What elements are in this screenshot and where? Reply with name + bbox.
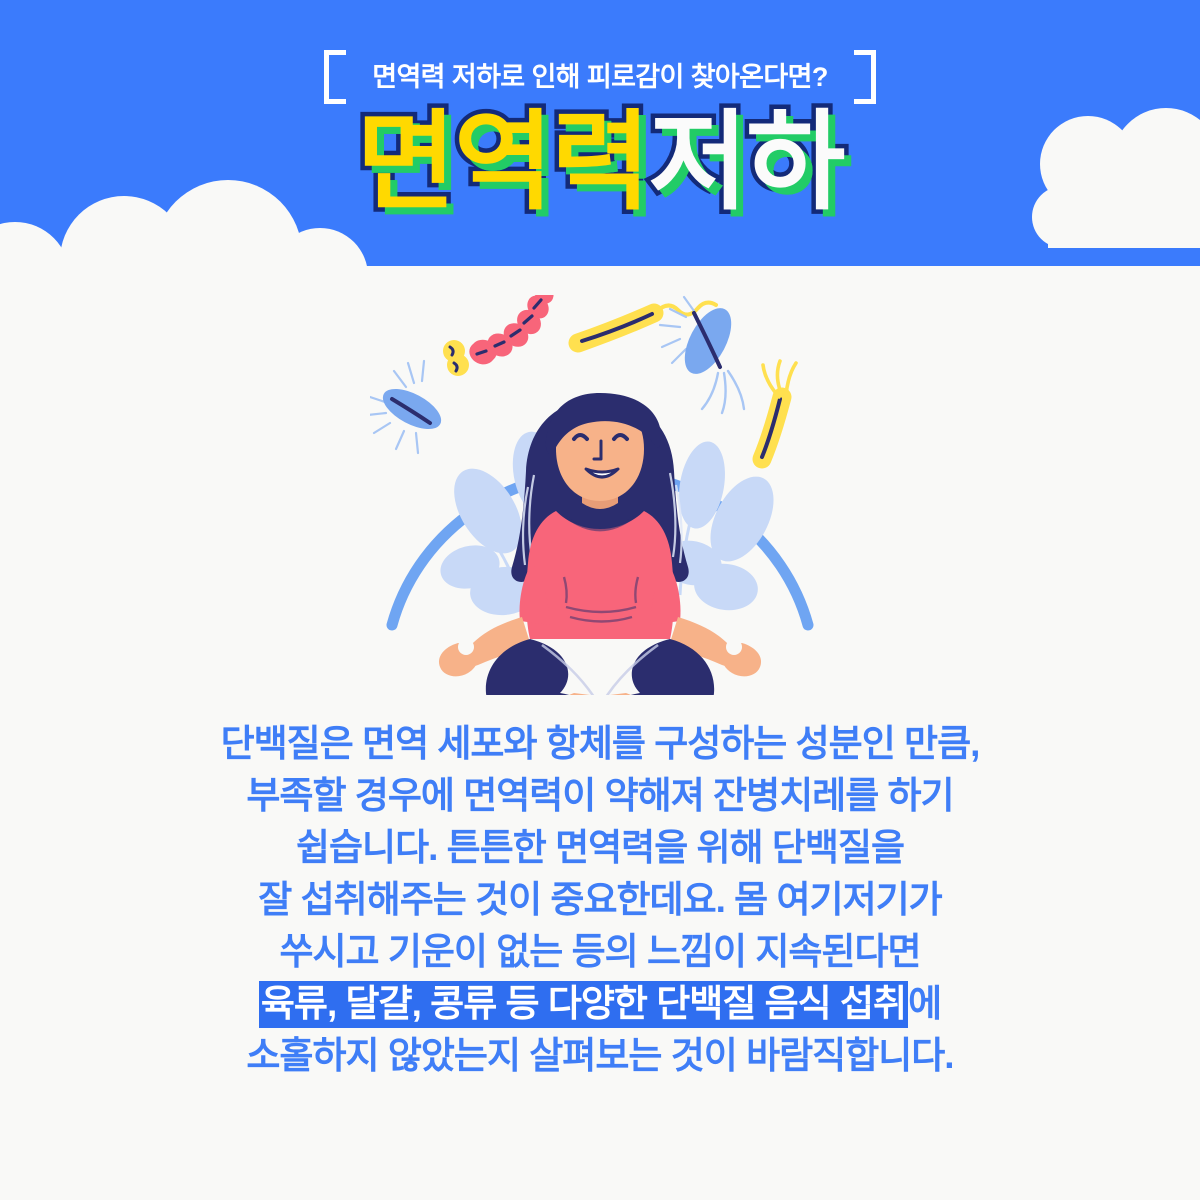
body-line-text: 부족할 경우에 면역력이 약해져 잔병치레를 하기	[246, 775, 953, 816]
title-part-decline: 저하	[649, 104, 844, 221]
body-line-text: 잘 섭취해주는 것이 중요한데요. 몸 여기저기가	[258, 879, 941, 920]
body-line: 단백질은 면역 세포와 항체를 구성하는 성분인 만큼,	[0, 718, 1200, 770]
germ-diplococcus-yellow	[443, 340, 469, 376]
illustration-woman-meditating	[370, 295, 830, 695]
hand-right	[721, 639, 761, 676]
bracket-left-icon	[324, 50, 346, 104]
bracket-right-icon	[854, 50, 876, 104]
title-part-immunity: 면역력	[357, 104, 649, 221]
body-line-text: 단백질은 면역 세포와 항체를 구성하는 성분인 만큼,	[221, 723, 980, 764]
body-line-text: 소홀하지 않았는지 살펴보는 것이 바람직합니다.	[246, 1035, 953, 1076]
body-line: 쑤시고 기운이 없는 등의 느낌이 지속된다면	[0, 926, 1200, 978]
body-copy: 단백질은 면역 세포와 항체를 구성하는 성분인 만큼, 부족할 경우에 면역력…	[0, 718, 1200, 1082]
highlighted-phrase: 육류, 달걀, 콩류 등 다양한 단백질 음식 섭취	[259, 981, 908, 1028]
subtitle-row: 면역력 저하로 인해 피로감이 찾아온다면?	[0, 48, 1200, 106]
hand-left	[439, 639, 479, 676]
germ-ciliated-blue-left	[370, 361, 447, 453]
header-subtitle: 면역력 저하로 인해 피로감이 찾아온다면?	[372, 50, 828, 104]
body-line-highlighted: 육류, 달걀, 콩류 등 다양한 단백질 음식 섭취에	[0, 978, 1200, 1030]
header-banner: 면역력 저하로 인해 피로감이 찾아온다면? 면역력저하	[0, 0, 1200, 266]
germ-ciliated-blue-right	[660, 297, 744, 413]
highlight-suffix: 에	[908, 983, 941, 1024]
body-line: 소홀하지 않았는지 살펴보는 것이 바람직합니다.	[0, 1030, 1200, 1082]
infographic-poster: 면역력 저하로 인해 피로감이 찾아온다면? 면역력저하	[0, 0, 1200, 1200]
body-line-text: 쉽습니다. 튼튼한 면역력을 위해 단백질을	[296, 827, 904, 868]
body-line-text: 쑤시고 기운이 없는 등의 느낌이 지속된다면	[279, 931, 920, 972]
body-line: 잘 섭취해주는 것이 중요한데요. 몸 여기저기가	[0, 874, 1200, 926]
germ-rod-yellow-tuft	[762, 361, 796, 459]
germ-streptococcus-pink	[466, 295, 558, 368]
body-line: 쉽습니다. 튼튼한 면역력을 위해 단백질을	[0, 822, 1200, 874]
body-line: 부족할 경우에 면역력이 약해져 잔병치레를 하기	[0, 770, 1200, 822]
page-title: 면역력저하	[0, 104, 1200, 221]
